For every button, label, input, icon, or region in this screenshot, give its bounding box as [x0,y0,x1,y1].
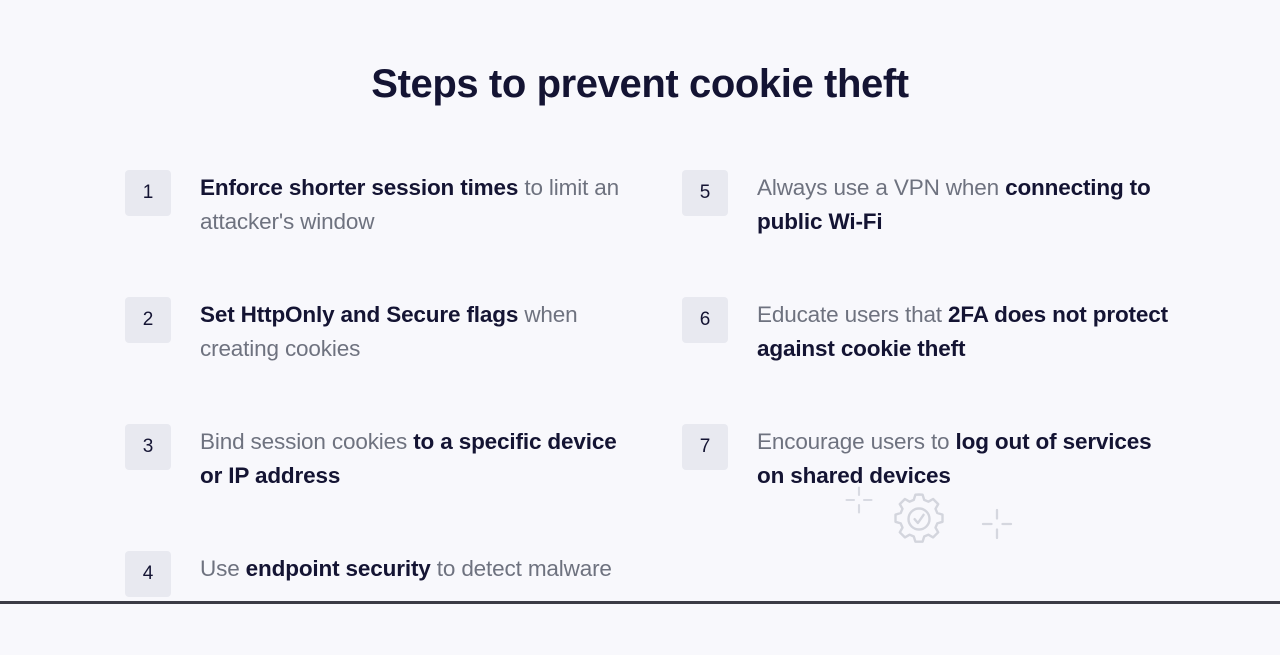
step-row: 1Enforce shorter session times to limit … [125,170,625,239]
decorative-icon-group [820,475,1020,550]
sparkle-icon [980,507,1014,541]
step-text: Enforce shorter session times to limit a… [200,170,625,239]
step-number-badge: 1 [125,170,171,216]
step-number-badge: 5 [682,170,728,216]
step-row: 2Set HttpOnly and Secure flags when crea… [125,297,625,366]
step-number-badge: 2 [125,297,171,343]
step-text: Set HttpOnly and Secure flags when creat… [200,297,625,366]
step-row: 5Always use a VPN when connecting to pub… [682,170,1182,239]
step-text: Bind session cookies to a specific devic… [200,424,625,493]
step-text: Educate users that 2FA does not protect … [757,297,1182,366]
step-row: 3Bind session cookies to a specific devi… [125,424,625,493]
step-text-emphasis: endpoint security [246,556,431,581]
step-number-badge: 6 [682,297,728,343]
steps-columns: 1Enforce shorter session times to limit … [0,170,1280,655]
step-row: 4Use endpoint security to detect malware [125,551,625,597]
sparkle-icon [844,485,874,515]
steps-column-left: 1Enforce shorter session times to limit … [125,170,625,655]
step-number-badge: 7 [682,424,728,470]
step-text-normal: Bind session cookies [200,429,413,454]
step-text-normal: to detect malware [431,556,612,581]
step-text-emphasis: Enforce shorter session times [200,175,518,200]
step-text: Always use a VPN when connecting to publ… [757,170,1182,239]
step-text: Use endpoint security to detect malware [200,551,612,586]
step-number-badge: 3 [125,424,171,470]
step-row: 6Educate users that 2FA does not protect… [682,297,1182,366]
step-text-normal: Educate users that [757,302,948,327]
slide-canvas: Steps to prevent cookie theft 1Enforce s… [0,0,1280,604]
step-text-normal: Always use a VPN when [757,175,1005,200]
page-title: Steps to prevent cookie theft [0,58,1280,110]
step-number-badge: 4 [125,551,171,597]
step-text-emphasis: Set HttpOnly and Secure flags [200,302,518,327]
gear-check-icon [890,490,948,548]
step-text-normal: Encourage users to [757,429,956,454]
step-text-normal: Use [200,556,246,581]
